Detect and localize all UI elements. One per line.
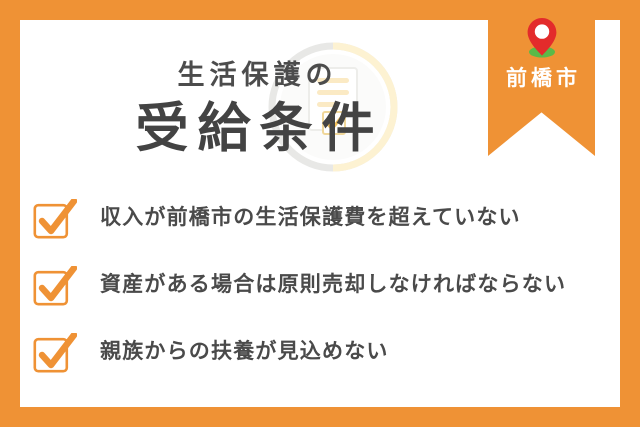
checked-checkbox-icon [33,333,77,373]
list-item: 収入が前橋市の生活保護費を超えていない [33,196,613,263]
list-item-label: 親族からの扶養が見込めない [100,338,389,365]
list-item: 資産がある場合は原則売却しなければならない [33,263,613,330]
page-title: 受給条件 [20,101,490,157]
checklist-document-circle-watermark-icon [268,42,398,172]
list-item: 親族からの扶養が見込めない [33,330,613,397]
checked-checkbox-icon [33,199,77,239]
map-pin-icon [525,16,559,58]
infographic-card: 生活保護の 受給条件 収入が前橋市の生活保護費を超えていない [0,0,640,427]
list-item-label: 収入が前橋市の生活保護費を超えていない [100,204,521,231]
header-title-block: 生活保護の 受給条件 [20,20,490,157]
requirements-checklist: 収入が前橋市の生活保護費を超えていない 資産がある場合は原則売却しなければならな… [33,196,613,397]
checked-checkbox-icon [33,266,77,306]
list-item-label: 資産がある場合は原則売却しなければならない [100,271,566,298]
page-subtitle: 生活保護の [20,62,490,89]
city-ribbon-label: 前橋市 [488,68,595,89]
